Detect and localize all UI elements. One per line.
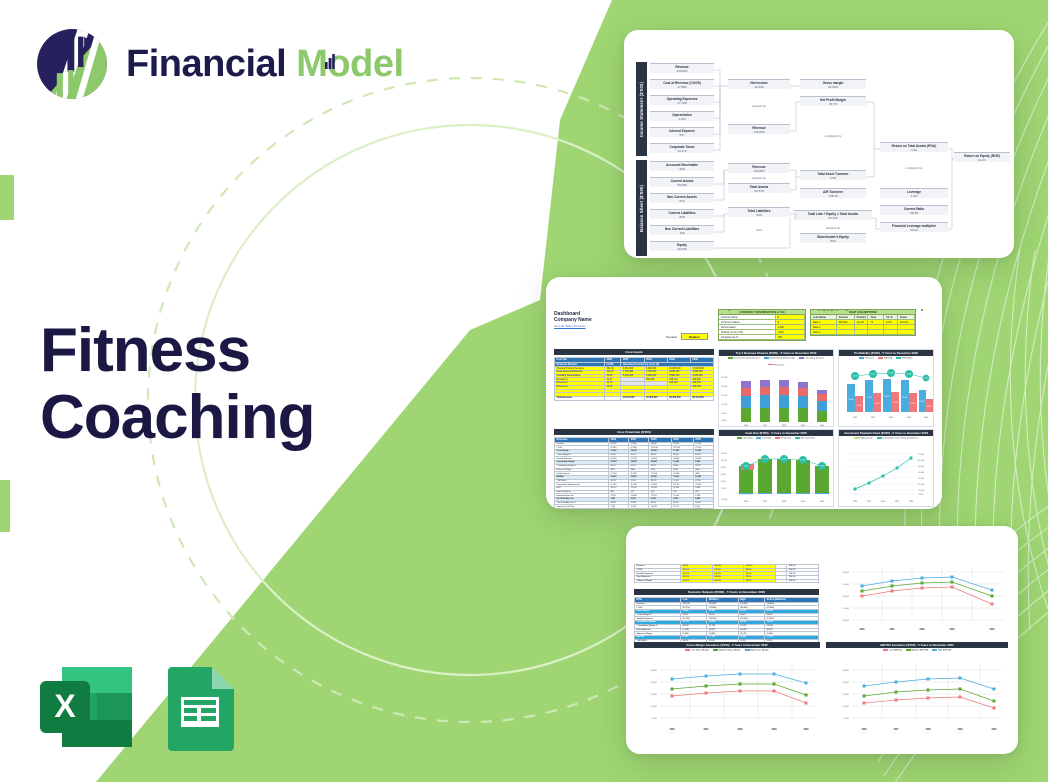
scenario-sheet: Revenue90.0%100.0%110.0%100.0% COGS105.0… xyxy=(626,526,1018,754)
svg-text:2027: 2027 xyxy=(763,501,768,503)
svg-text:28,100: 28,100 xyxy=(902,397,907,399)
svg-text:2028: 2028 xyxy=(881,501,886,503)
svg-text:2029: 2029 xyxy=(907,417,912,419)
svg-text:17,000: 17,000 xyxy=(721,395,728,397)
dupont-connectors xyxy=(624,30,1014,258)
legend-item: Operating xyxy=(737,437,753,439)
legend-item: Personal Training Services xyxy=(728,357,760,359)
slide-root: Financial Model Fitness Coaching X xyxy=(0,0,1048,782)
legend-item: Medium EBITDA xyxy=(906,649,928,651)
svg-text:2028: 2028 xyxy=(925,729,931,731)
legend-item: Revenue 4 xyxy=(768,364,785,366)
svg-text:2028: 2028 xyxy=(919,629,925,631)
legend-item: Financing xyxy=(775,437,791,439)
top-revenue-streams-chart[interactable]: Top 5 Revenue Streams ($'000) - 5 Years … xyxy=(718,349,834,427)
svg-text:52.1%: 52.1% xyxy=(871,374,876,376)
legend-item: High EBITDA xyxy=(932,649,951,651)
legend-item: Low EBITDA xyxy=(883,649,902,651)
svg-text:2027: 2027 xyxy=(889,629,895,631)
svg-text:(2,000): (2,000) xyxy=(721,499,728,501)
mini-bar-chart-icon xyxy=(323,51,337,71)
svg-text:15,000: 15,000 xyxy=(842,608,849,610)
svg-text:2028: 2028 xyxy=(889,417,894,419)
core-inputs-table[interactable]: Cost Tax20262027202820292030 Revenue Str… xyxy=(554,357,714,401)
svg-text:6,000: 6,000 xyxy=(721,474,727,476)
svg-text:2029: 2029 xyxy=(957,729,963,731)
svg-text:19,200: 19,200 xyxy=(919,401,924,403)
svg-text:42,000: 42,000 xyxy=(918,472,925,474)
chart-plot: 25,00020,00015,000 10,0005,000 202620272… xyxy=(634,658,820,738)
brand-logo[interactable]: Financial Model xyxy=(34,26,404,102)
svg-text:8,000: 8,000 xyxy=(721,467,727,469)
svg-text:10,200: 10,200 xyxy=(800,460,805,462)
svg-text:2026: 2026 xyxy=(744,425,749,427)
core-financials-table[interactable]: Structure20262027202820292030 Revenue26,… xyxy=(554,437,714,509)
svg-text:2027: 2027 xyxy=(763,425,768,427)
svg-text:8,600: 8,600 xyxy=(744,466,748,468)
scenario-label: Scenario xyxy=(666,335,677,339)
chart-plot: 25,00020,00015,000 10,0005,000 202620272… xyxy=(826,658,1008,738)
legend-item: Revenue xyxy=(859,357,874,359)
legend-item: Cumulative Cash Generated (Gross) xyxy=(877,437,919,439)
svg-text:2029: 2029 xyxy=(801,425,806,427)
svg-text:-: - xyxy=(721,493,722,495)
scenario-outputs-header: Scenario Outputs ($'000) - 5 Years to De… xyxy=(634,589,819,595)
svg-text:2026: 2026 xyxy=(853,501,858,503)
core-financials-header: Core Financials ($'000) xyxy=(554,429,714,435)
svg-text:27,900: 27,900 xyxy=(866,397,871,399)
svg-text:62,000: 62,000 xyxy=(918,460,925,462)
legend-item: EBITDA xyxy=(878,357,892,359)
brand-name-part1: Financial xyxy=(126,43,286,85)
chart-legend: Low Gross Margin Medium Gross Margin Hig… xyxy=(634,648,820,653)
google-sheets-badge[interactable] xyxy=(160,663,240,751)
svg-text:2,000: 2,000 xyxy=(721,420,727,422)
svg-text:46.2%: 46.2% xyxy=(853,376,858,378)
chart-plot: 27,00022,00017,000 12,0007,0002,000 2026… xyxy=(719,370,835,428)
svg-text:22,000: 22,000 xyxy=(918,484,925,486)
chart-legend: Low EBITDA Medium EBITDA High EBITDA xyxy=(826,648,1008,653)
brand-wordmark: Financial Model xyxy=(126,45,404,83)
svg-text:2026: 2026 xyxy=(744,501,749,503)
chart-legend: Operating Investing Financing Net Cash F… xyxy=(719,436,833,441)
dashboard-company-name: Company Name xyxy=(554,317,592,323)
scenario-outputs-table[interactable]: KPIsLowMediumHighActive (Medium) Revenue… xyxy=(634,597,819,643)
scenario-value[interactable]: Medium xyxy=(681,333,708,340)
svg-text:2030: 2030 xyxy=(989,629,995,631)
panel-debt-assumptions: DEBT ASSUMPTIONS Loan NameAmountGrantedT… xyxy=(810,309,916,336)
svg-text:32,000: 32,000 xyxy=(918,478,925,480)
svg-text:2026: 2026 xyxy=(861,729,867,731)
svg-text:2029: 2029 xyxy=(771,729,777,731)
legend-item: Investing xyxy=(756,437,771,439)
scenario-assumption-table[interactable]: Revenue90.0%100.0%110.0%100.0% COGS105.0… xyxy=(634,564,819,583)
brand-name-part2: Model xyxy=(296,43,403,85)
svg-text:15,600: 15,600 xyxy=(910,403,915,405)
gross-margin-scenarios-chart[interactable]: Gross Margin Scenarios ($'000) - 5 Years… xyxy=(634,642,820,742)
core-inputs-header: Core Inputs xyxy=(554,349,714,355)
svg-text:2026: 2026 xyxy=(853,417,858,419)
svg-text:2027: 2027 xyxy=(867,501,872,503)
svg-text:5,000: 5,000 xyxy=(652,718,658,720)
svg-text:10,000: 10,000 xyxy=(721,460,728,462)
svg-text:20,000: 20,000 xyxy=(842,596,849,598)
svg-text:2030: 2030 xyxy=(924,417,929,419)
svg-text:10,400: 10,400 xyxy=(926,406,931,408)
dashboard-card[interactable]: Dashboard Company Name Go to the Table o… xyxy=(546,277,942,509)
svg-text:15,000: 15,000 xyxy=(842,694,849,696)
svg-text:5,000: 5,000 xyxy=(844,718,850,720)
svg-text:53.0%: 53.0% xyxy=(889,373,894,375)
svg-text:7,000: 7,000 xyxy=(721,413,727,415)
svg-text:27,000: 27,000 xyxy=(721,377,728,379)
panel-currency-denomination-tax: CURRENCY DENOMINATION & TAX Currency Nam… xyxy=(718,309,806,341)
brand-name-part2-wrap: Model xyxy=(296,43,403,85)
table-of-contents-link[interactable]: Go to the Table of Contents xyxy=(554,325,586,328)
svg-text:2026: 2026 xyxy=(859,629,865,631)
svg-text:26,200: 26,200 xyxy=(848,399,853,401)
svg-text:10,300: 10,300 xyxy=(781,459,786,461)
svg-text:4,000: 4,000 xyxy=(721,481,727,483)
svg-text:2029: 2029 xyxy=(949,629,955,631)
svg-text:2,000: 2,000 xyxy=(918,494,924,496)
svg-text:2029: 2029 xyxy=(801,501,806,503)
chart-legend: Revenue EBITDA EBITDA % xyxy=(839,356,933,361)
svg-text:20,000: 20,000 xyxy=(650,682,657,684)
chart-plot: 72,00062,00052,00042,000 32,00022,00012,… xyxy=(839,446,935,506)
svg-text:2030: 2030 xyxy=(820,501,825,503)
chart-plot: 46.2%52.1%53.0%51.8%47.3% 26,20012,400 2… xyxy=(839,366,935,424)
svg-text:22,000: 22,000 xyxy=(721,386,728,388)
svg-text:25,000: 25,000 xyxy=(650,670,657,672)
svg-text:15,800: 15,800 xyxy=(874,403,879,405)
legend-item: Consulting Services xyxy=(799,357,824,359)
svg-text:12,400: 12,400 xyxy=(856,405,861,407)
svg-text:12,000: 12,000 xyxy=(721,404,728,406)
legend-item: High Gross Margin xyxy=(745,649,769,651)
svg-text:12,000: 12,000 xyxy=(918,490,925,492)
legend-item: Net Cash Flow xyxy=(795,437,815,439)
svg-text:15,000: 15,000 xyxy=(650,694,657,696)
svg-text:2028: 2028 xyxy=(782,501,787,503)
svg-text:2027: 2027 xyxy=(893,729,899,731)
dashboard-sheet: Dashboard Company Name Go to the Table o… xyxy=(546,277,942,509)
page-title-line1: Fitness xyxy=(40,318,314,385)
svg-text:25,000: 25,000 xyxy=(842,670,849,672)
investment-payback-chart[interactable]: Investment Payback Chart ($'000) - 5 Yea… xyxy=(838,429,934,507)
svg-text:X: X xyxy=(54,688,76,724)
chart-plot: 30,00025,00020,000 15,00010,000 20262027… xyxy=(826,562,1008,636)
svg-text:52,000: 52,000 xyxy=(918,466,925,468)
svg-text:2030: 2030 xyxy=(803,729,809,731)
format-badges: X xyxy=(36,663,240,751)
svg-text:2030: 2030 xyxy=(909,501,914,503)
dashboard-title: Dashboard Company Name xyxy=(554,311,592,324)
ebitda-scenarios-chart[interactable]: EBITDA Scenarios ($'000) - 5 Years to De… xyxy=(826,642,1008,742)
svg-text:2028: 2028 xyxy=(737,729,743,731)
svg-text:28,400: 28,400 xyxy=(884,396,889,398)
svg-text:2027: 2027 xyxy=(703,729,709,731)
svg-text:47.3%: 47.3% xyxy=(924,378,929,380)
svg-text:8,000: 8,000 xyxy=(820,466,824,468)
svg-text:25,000: 25,000 xyxy=(842,584,849,586)
page-title-line2: Coaching xyxy=(40,385,314,452)
svg-text:10,000: 10,000 xyxy=(650,706,657,708)
legend-item: Payback year xyxy=(854,437,873,439)
legend-item: EBITDA % xyxy=(896,357,912,359)
svg-text:10,700: 10,700 xyxy=(762,459,767,461)
svg-text:2029: 2029 xyxy=(895,501,900,503)
dupont-analysis-card[interactable]: Income Statement ($'000) Balance Sheet (… xyxy=(624,30,1014,258)
svg-text:2030: 2030 xyxy=(820,425,825,427)
dashboard-title-text: Dashboard xyxy=(554,311,580,317)
svg-text:2026: 2026 xyxy=(669,729,675,731)
excel-badge[interactable]: X xyxy=(36,663,136,751)
svg-text:2030: 2030 xyxy=(991,729,997,731)
svg-text:10,000: 10,000 xyxy=(842,620,849,622)
dupont-diagram: Income Statement ($'000) Balance Sheet (… xyxy=(624,30,1014,258)
svg-text:51.8%: 51.8% xyxy=(907,374,912,376)
svg-text:2027: 2027 xyxy=(871,417,876,419)
svg-text:20,000: 20,000 xyxy=(842,682,849,684)
page-title: Fitness Coaching xyxy=(40,318,314,452)
svg-text:12,000: 12,000 xyxy=(721,453,728,455)
scenario-selector[interactable]: Scenario Medium xyxy=(666,333,708,340)
chart-legend: Payback year Cumulative Cash Generated (… xyxy=(839,436,933,441)
legend-item: Low Gross Margin xyxy=(685,649,709,651)
profitability-chart[interactable]: Profitability ($'000) - 5 Years to Decem… xyxy=(838,349,934,427)
svg-text:16,300: 16,300 xyxy=(892,402,897,404)
legend-item: Medium Gross Margin xyxy=(713,649,741,651)
circle-bar-chart-icon xyxy=(34,26,110,102)
scenario-outputs-card[interactable]: Revenue90.0%100.0%110.0%100.0% COGS105.0… xyxy=(626,526,1018,754)
svg-text:2,000: 2,000 xyxy=(721,488,727,490)
svg-text:10,000: 10,000 xyxy=(842,706,849,708)
left-panel: Financial Model Fitness Coaching X xyxy=(0,0,470,782)
chart-legend: Personal Training Services Small Group M… xyxy=(719,356,833,367)
chart-plot: 12,00010,0008,000 6,0004,0002,000 -(2,00… xyxy=(719,446,835,506)
svg-text:30,000: 30,000 xyxy=(842,572,849,574)
svg-text:2028: 2028 xyxy=(782,425,787,427)
svg-text:72,000: 72,000 xyxy=(918,454,925,456)
cash-flow-chart[interactable]: Cash flow ($'000) - 5 Years to December … xyxy=(718,429,834,507)
legend-item: Small Group Membership xyxy=(764,357,795,359)
scenario-top-right-chart[interactable]: 30,00025,00020,000 15,00010,000 20262027… xyxy=(826,562,1008,636)
